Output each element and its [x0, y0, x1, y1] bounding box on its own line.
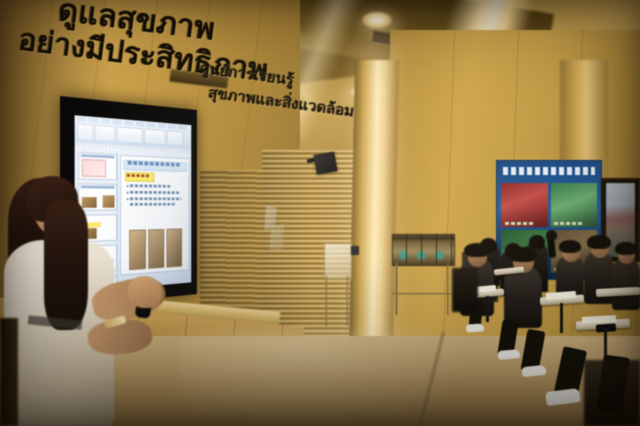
- thumb-title-bar: [81, 154, 115, 158]
- ribbon-group: [95, 125, 115, 143]
- photo-scene: ดูแลสุขภาพ อย่างมีประสิทธิภาพ ศูนย์การเร…: [0, 0, 640, 426]
- slide-photo: [129, 230, 146, 270]
- slide-thumbnail[interactable]: [78, 183, 117, 211]
- audience-head: [529, 235, 545, 249]
- audience-hair: [587, 235, 611, 249]
- raised-hand: [546, 230, 557, 240]
- slide-photo-row: [129, 229, 182, 270]
- audience-hair: [615, 242, 637, 255]
- slide-thumbnail[interactable]: [78, 152, 117, 180]
- slide-photo: [167, 229, 182, 268]
- presenter-hair-length: [44, 200, 88, 330]
- easel-board: [324, 243, 352, 279]
- audience-hair: [509, 247, 537, 262]
- slide-bullet: [130, 184, 171, 187]
- wall-outlet-icon: [351, 246, 359, 255]
- thumb-map-image: [82, 159, 106, 177]
- bullet-marker: [126, 192, 128, 194]
- desk-leg: [560, 303, 563, 333]
- floor-light-reflection: [180, 330, 480, 426]
- ribbon-group: [117, 126, 143, 144]
- slide-bullet: [130, 197, 181, 200]
- slide-highlight-text: [126, 174, 150, 177]
- presenter-hand: [128, 276, 162, 308]
- easel-legs: [322, 276, 352, 326]
- thumb-photo: [102, 195, 114, 207]
- ribbon-group: [77, 123, 93, 141]
- exhibit-dividers: [392, 234, 453, 264]
- audience-shoe: [466, 323, 485, 332]
- slide-bullet: [130, 191, 179, 194]
- thumb-title-bar: [81, 185, 115, 188]
- slide-photo: [148, 229, 164, 269]
- wall-speaker-icon: [313, 151, 337, 174]
- audience-shoe: [498, 349, 521, 360]
- ribbon-group: [167, 130, 183, 146]
- slide-bullet: [130, 203, 176, 206]
- thumb-photo: [82, 197, 97, 208]
- exhibit-stand-legs: [392, 263, 453, 315]
- ribbon-group: [144, 128, 165, 145]
- desk-leg: [486, 296, 489, 322]
- left-edge-frame: [0, 318, 18, 426]
- audience-hair: [559, 240, 581, 253]
- foreground-chair-mass: [584, 360, 640, 426]
- audience-person-body: [612, 258, 640, 310]
- active-slide[interactable]: [120, 155, 189, 276]
- bullet-marker: [126, 198, 128, 200]
- audience-person-body: [504, 266, 542, 328]
- chair-back: [452, 268, 478, 312]
- downlight-icon: [362, 12, 392, 29]
- audience-hair: [464, 243, 490, 257]
- bullet-marker: [126, 185, 128, 187]
